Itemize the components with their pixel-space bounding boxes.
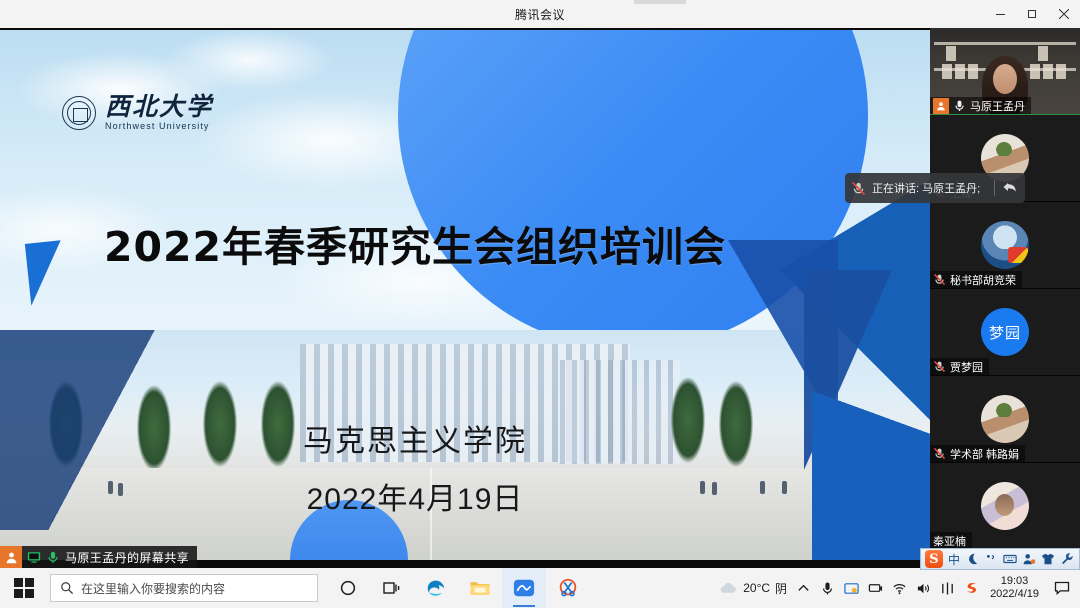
- screen-share-badge: 马原王孟丹的屏幕共享: [0, 546, 197, 568]
- edge-browser-icon: [425, 577, 447, 599]
- university-logo: 西北大学 Northwest University: [62, 94, 213, 131]
- speaking-toast: 正在讲话: 马原王孟丹;: [845, 173, 1025, 203]
- taskbar-item-screenshot-tool[interactable]: [546, 568, 590, 608]
- cortana-circle-icon: [340, 580, 356, 596]
- window-title-bar: 腾讯会议: [0, 0, 1080, 28]
- taskbar-item-edge[interactable]: [414, 568, 458, 608]
- search-input[interactable]: 在这里输入你要搜索的内容: [50, 574, 318, 602]
- window-title: 腾讯会议: [515, 6, 565, 23]
- university-logo-text: 西北大学 Northwest University: [105, 94, 213, 131]
- participant-name: 秘书部胡竞荣: [950, 272, 1016, 288]
- participant-tile[interactable]: 秘书部胡竞荣: [930, 202, 1080, 289]
- participant-strip[interactable]: 马原王孟丹 王臻: [930, 28, 1080, 568]
- participant-nametag: 秘书部胡竞荣: [930, 271, 1022, 288]
- slide-subtitle: 马克思主义学院: [0, 416, 830, 460]
- participant-avatar: 梦园: [981, 308, 1029, 356]
- weather-condition: 阴: [775, 580, 787, 597]
- windows-logo-icon: [14, 578, 34, 598]
- participant-tile[interactable]: 梦园 贾梦园: [930, 289, 1080, 376]
- self-avatar-badge: [933, 98, 949, 114]
- moon-icon[interactable]: [965, 552, 979, 566]
- microphone-muted-icon: [933, 447, 946, 460]
- search-placeholder: 在这里输入你要搜索的内容: [81, 580, 225, 597]
- shelf-item: [1030, 64, 1040, 79]
- participant-name: 贾梦园: [950, 359, 983, 375]
- participant-tile[interactable]: 马原王孟丹: [930, 28, 1080, 115]
- folder-icon: [469, 578, 491, 598]
- university-name-cn: 西北大学: [105, 94, 213, 120]
- close-button[interactable]: [1048, 0, 1080, 28]
- window-controls: [984, 0, 1080, 28]
- participant-face: [993, 64, 1017, 94]
- clock-time: 19:03: [1001, 575, 1029, 588]
- taskbar-clock[interactable]: 19:03 2022/4/19: [990, 575, 1039, 600]
- weather-widget[interactable]: 20°C 阴: [718, 580, 787, 597]
- tencent-meeting-icon: [513, 577, 535, 599]
- microphone-tray-icon[interactable]: [820, 581, 835, 596]
- shelf-item: [1056, 64, 1066, 79]
- microphone-muted-icon: [933, 273, 946, 286]
- taskbar-item-tencent-meeting[interactable]: [502, 568, 546, 608]
- ime-mode-label[interactable]: 中: [948, 551, 960, 568]
- person-icon: [5, 551, 18, 564]
- participant-name: 秦亚楠: [933, 533, 966, 549]
- search-icon: [60, 581, 74, 595]
- start-button[interactable]: [0, 568, 48, 608]
- ime-status-tray-icon[interactable]: [940, 581, 955, 596]
- participant-nametag: 学术部 韩路娟: [930, 445, 1025, 462]
- sogou-tray-icon[interactable]: [964, 581, 979, 596]
- user-account-icon[interactable]: [1022, 552, 1036, 566]
- skin-shirt-icon[interactable]: [1041, 552, 1055, 566]
- participant-avatar: [981, 395, 1029, 443]
- shelf-item: [955, 64, 965, 79]
- participant-name: 学术部 韩路娟: [950, 446, 1019, 462]
- shared-screen-area[interactable]: 西北大学 Northwest University 2022年春季研究生会组织培…: [0, 28, 930, 568]
- clock-date: 2022/4/19: [990, 588, 1039, 601]
- microphone-muted-icon: [933, 360, 946, 373]
- participant-nametag: 秦亚楠: [930, 532, 972, 549]
- person-icon: [936, 101, 946, 111]
- participant-tile[interactable]: 学术部 韩路娟: [930, 376, 1080, 463]
- participant-tile[interactable]: 秦亚楠: [930, 463, 1080, 550]
- scissors-capture-icon: [557, 577, 579, 599]
- network-monitor-icon[interactable]: [868, 581, 883, 596]
- system-tray: 20°C 阴: [718, 575, 1080, 600]
- close-icon: [1059, 9, 1069, 19]
- screen-share-icon: [27, 550, 41, 564]
- volume-icon[interactable]: [916, 581, 931, 596]
- university-seal-icon: [62, 96, 96, 130]
- wifi-icon[interactable]: [892, 581, 907, 596]
- cloudy-weather-icon: [718, 580, 738, 596]
- windows-taskbar: 在这里输入你要搜索的内容: [0, 568, 1080, 608]
- slide-date: 2022年4月19日: [0, 474, 830, 518]
- graphics-settings-icon[interactable]: [844, 581, 859, 596]
- wrench-settings-icon[interactable]: [1060, 552, 1074, 566]
- presentation-slide: 西北大学 Northwest University 2022年春季研究生会组织培…: [0, 30, 930, 560]
- shelf-item: [946, 46, 956, 61]
- avatar-initials: 梦园: [989, 322, 1021, 343]
- shelf-item: [942, 64, 952, 79]
- participant-avatar: [981, 482, 1029, 530]
- microphone-icon: [46, 550, 60, 564]
- keyboard-icon[interactable]: [1003, 552, 1017, 566]
- microphone-muted-icon: [851, 181, 866, 196]
- tab-stub: [634, 0, 686, 4]
- screen-root: 腾讯会议: [0, 0, 1080, 608]
- university-name-en: Northwest University: [105, 121, 213, 131]
- notification-center-icon[interactable]: [1054, 580, 1070, 596]
- speaking-toast-text: 正在讲话: 马原王孟丹;: [872, 180, 988, 196]
- participant-nametag: 马原王孟丹: [930, 97, 1031, 114]
- meeting-body: 西北大学 Northwest University 2022年春季研究生会组织培…: [0, 28, 1080, 568]
- taskbar-item-file-explorer[interactable]: [458, 568, 502, 608]
- show-hidden-icons-chevron-icon[interactable]: [796, 581, 811, 596]
- reply-arrow-icon[interactable]: [1001, 179, 1019, 197]
- maximize-button[interactable]: [1016, 0, 1048, 28]
- shelf-item: [1038, 46, 1048, 61]
- task-view-button[interactable]: [370, 568, 414, 608]
- participant-name: 马原王孟丹: [970, 98, 1025, 114]
- microphone-icon: [953, 99, 966, 112]
- minimize-button[interactable]: [984, 0, 1016, 28]
- punctuation-icon[interactable]: [984, 552, 998, 566]
- ime-toolbar[interactable]: S 中: [920, 548, 1080, 570]
- slide-title: 2022年春季研究生会组织培训会: [0, 213, 830, 273]
- cortana-button[interactable]: [326, 568, 370, 608]
- sogou-logo-icon[interactable]: S: [925, 550, 943, 568]
- participant-avatar: [981, 221, 1029, 269]
- toast-divider: [994, 180, 995, 196]
- weather-temperature: 20°C: [743, 581, 770, 595]
- shelf-item: [1043, 64, 1053, 79]
- task-view-icon: [383, 580, 401, 596]
- participant-nametag: 贾梦园: [930, 358, 989, 375]
- shelf-item: [968, 64, 978, 79]
- share-owner-avatar: [0, 546, 22, 568]
- screen-share-label: 马原王孟丹的屏幕共享: [65, 549, 189, 566]
